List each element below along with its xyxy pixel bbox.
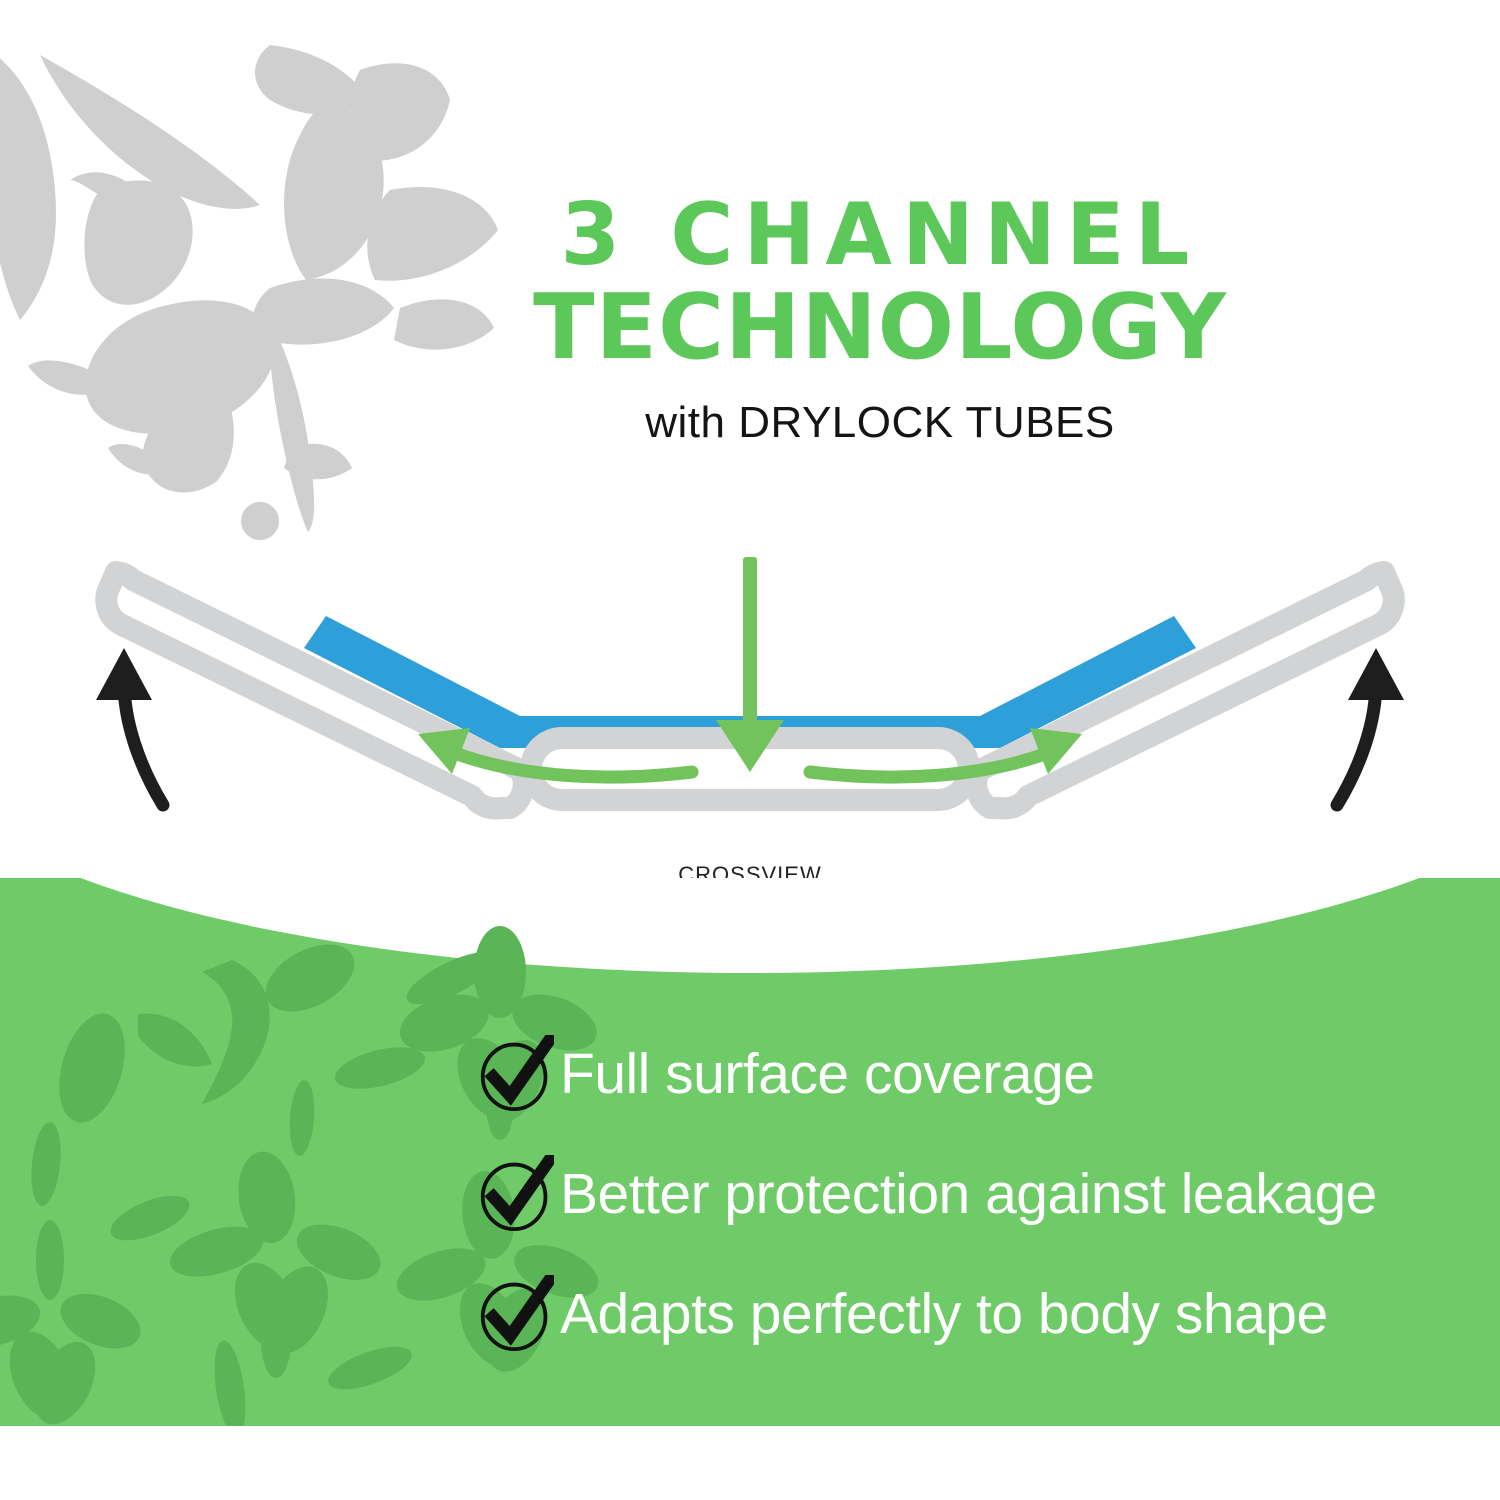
check-circle-icon [478, 1155, 554, 1233]
benefits-list: Full surface coverage Better protection … [478, 1028, 1488, 1388]
benefit-label: Full surface coverage [560, 1046, 1094, 1103]
benefits-panel: Full surface coverage Better protection … [0, 878, 1500, 1426]
page-title-line-1: 3 CHANNEL [420, 195, 1340, 277]
check-circle-icon [478, 1275, 554, 1353]
left-flex-arrow [96, 648, 163, 805]
heading-block: 3 CHANNEL TECHNOLOGY with DRYLOCK TUBES [420, 195, 1340, 448]
right-flex-arrow [1337, 648, 1404, 805]
page-title-line-2: TECHNOLOGY [420, 285, 1340, 371]
bottom-white-strip [0, 1426, 1500, 1500]
benefit-label: Adapts perfectly to body shape [560, 1286, 1328, 1343]
page-subtitle: with DRYLOCK TUBES [420, 398, 1340, 448]
list-item: Full surface coverage [478, 1028, 1488, 1120]
check-circle-icon [478, 1035, 554, 1113]
infographic-poster: 3 CHANNEL TECHNOLOGY with DRYLOCK TUBES [0, 0, 1500, 1500]
benefit-label: Better protection against leakage [560, 1166, 1377, 1223]
list-item: Better protection against leakage [478, 1148, 1488, 1240]
crossview-diagram [0, 520, 1500, 860]
list-item: Adapts perfectly to body shape [478, 1268, 1488, 1360]
